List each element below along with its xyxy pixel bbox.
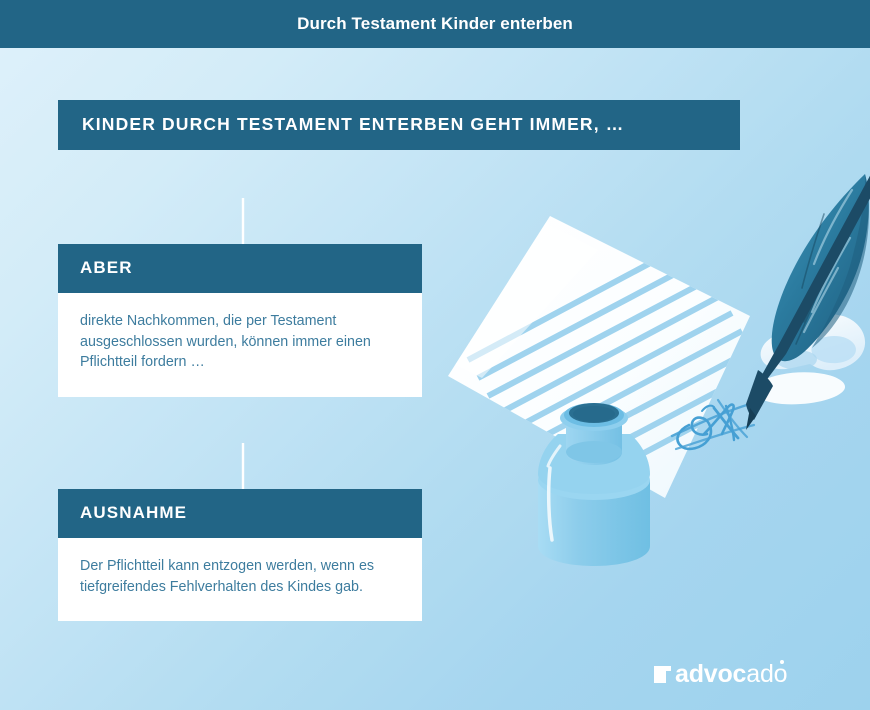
flow-card-ausnahme: AUSNAHME Der Pflichtteil kann entzogen w… — [58, 489, 422, 621]
advocado-wordmark-light: ado — [746, 660, 787, 688]
flow-card-title-heading: KINDER DURCH TESTAMENT ENTERBEN GEHT IMM… — [58, 100, 740, 150]
advocado-square-mark-icon — [654, 666, 671, 683]
advocado-accent-dot-icon — [780, 660, 784, 664]
flow-card-aber-body: direkte Nachkommen, die per Testament au… — [58, 293, 422, 397]
flow-card-ausnahme-body: Der Pflichtteil kann entzogen werden, we… — [58, 538, 422, 621]
advocado-wordmark-bold: advoc — [675, 660, 746, 688]
header-bar: Durch Testament Kinder enterben — [0, 0, 870, 48]
flow-card-ausnahme-heading: AUSNAHME — [58, 489, 422, 538]
infographic-canvas: Durch Testament Kinder enterben — [0, 0, 870, 710]
advocado-wordmark: advocado — [675, 662, 787, 687]
flow-card-aber-heading: ABER — [58, 244, 422, 293]
content-area: KINDER DURCH TESTAMENT ENTERBEN GEHT IMM… — [0, 48, 870, 710]
page-title: Durch Testament Kinder enterben — [297, 14, 573, 34]
flow-card-aber-text: direkte Nachkommen, die per Testament au… — [80, 311, 400, 373]
flow-card-aber: ABER direkte Nachkommen, die per Testame… — [58, 244, 422, 397]
flow-card-ausnahme-text: Der Pflichtteil kann entzogen werden, we… — [80, 556, 400, 597]
flow-card-title: KINDER DURCH TESTAMENT ENTERBEN GEHT IMM… — [58, 100, 740, 150]
quill-signing-document-illustration — [420, 168, 870, 588]
advocado-logo: advocado — [654, 660, 787, 688]
